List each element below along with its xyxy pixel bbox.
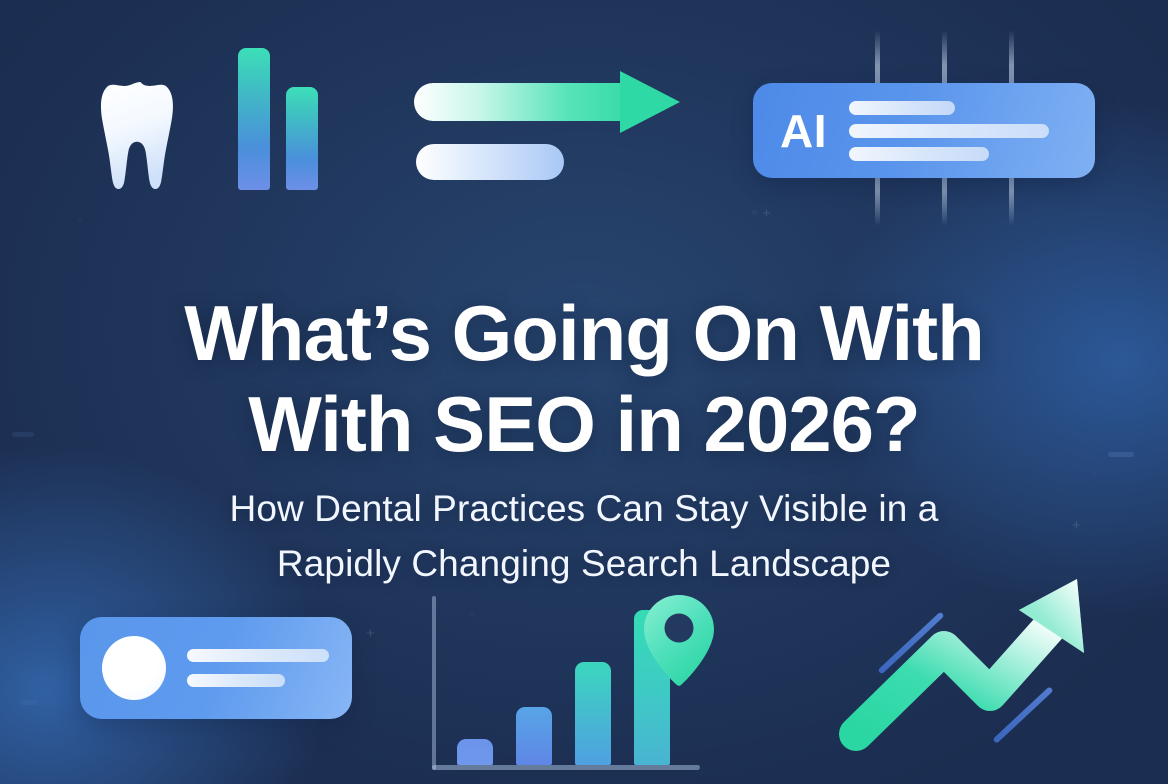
ai-badge-line [849, 124, 1049, 138]
chart-y-axis [432, 596, 436, 770]
profile-card-icon [80, 617, 352, 719]
page-title-line-2: With SEO in 2026? [0, 379, 1168, 469]
bg-dash [20, 700, 38, 705]
hero-graphic: + + + AI [0, 0, 1168, 784]
arrow-shaft [414, 83, 642, 121]
ai-badge-line [849, 147, 989, 161]
chart-x-axis [432, 765, 700, 770]
profile-card-line [187, 674, 285, 687]
right-arrow-icon [414, 55, 702, 180]
ai-badge-line [849, 101, 955, 115]
bg-speck [78, 218, 82, 222]
profile-card-lines [187, 649, 329, 687]
ai-badge-card: AI [753, 83, 1095, 178]
profile-card-line [187, 649, 329, 662]
arrow-head [620, 71, 680, 133]
tooth-icon [99, 77, 183, 189]
page-subtitle-line-1: How Dental Practices Can Stay Visible in… [0, 481, 1168, 537]
chart-bar [457, 739, 493, 765]
arrow-sub-bar [416, 144, 564, 180]
bg-plus-icon: + [366, 626, 375, 641]
chart-bar [516, 707, 552, 765]
page-title: What’s Going On With With SEO in 2026? [0, 288, 1168, 469]
ai-badge-label: AI [780, 108, 827, 154]
bar-chart-bar [238, 48, 270, 190]
avatar [102, 636, 166, 700]
page-title-line-1: What’s Going On With [0, 288, 1168, 378]
map-pin-icon [640, 594, 718, 686]
ai-badge-icon: AI [744, 30, 1104, 226]
chart-bar [575, 662, 611, 765]
local-ranking-chart-icon [432, 588, 722, 784]
bar-chart-icon [238, 48, 326, 190]
ai-badge-lines [849, 101, 1049, 161]
bg-speck [1092, 472, 1096, 476]
bar-chart-bar [286, 87, 318, 190]
trending-up-arrow-icon [832, 552, 1132, 784]
